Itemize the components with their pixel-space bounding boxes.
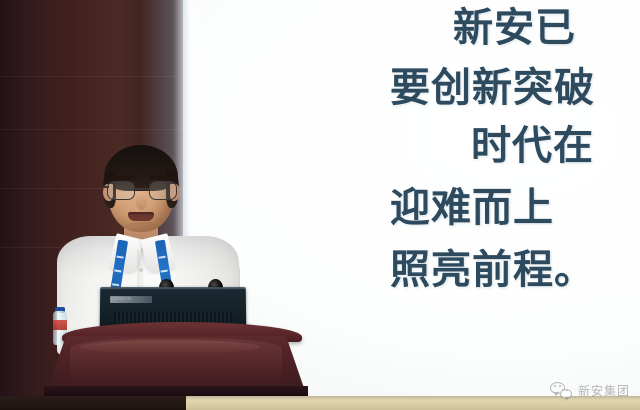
- laptop-lid-edge: [100, 287, 246, 289]
- watermark: 新安集团: [550, 381, 630, 399]
- podium-highlight: [80, 340, 260, 354]
- wechat-dot: [559, 385, 561, 387]
- mouth: [128, 212, 154, 221]
- podium-base: [44, 386, 308, 396]
- chin-shadow: [122, 222, 162, 232]
- lanyard-print: [114, 269, 121, 272]
- wechat-dot: [566, 389, 568, 391]
- laptop-brand-logo: Lenovo: [110, 296, 152, 303]
- slide-line-4: 迎难而上: [390, 186, 554, 230]
- lanyard-print: [116, 256, 123, 259]
- lens-right: [149, 181, 177, 200]
- slide-line-3: 时代在: [471, 124, 594, 168]
- slide-line-5: 照亮前程。: [390, 248, 595, 292]
- lanyard-print: [161, 270, 168, 273]
- watermark-label: 新安集团: [578, 382, 630, 399]
- bottle-label: [53, 320, 67, 330]
- laptop-vent: [114, 311, 232, 322]
- lens-left: [107, 181, 135, 200]
- wechat-icon: [550, 381, 572, 399]
- slide-line-1: 新安已: [453, 6, 576, 50]
- nose: [136, 194, 147, 210]
- wechat-dot: [554, 385, 556, 387]
- slide-line-2: 要创新突破: [390, 66, 595, 110]
- glasses-bridge: [135, 188, 149, 190]
- wechat-dot: [562, 389, 564, 391]
- shirt-button: [139, 268, 143, 272]
- floor-strip-dark: [0, 396, 186, 410]
- lanyard-print: [158, 256, 165, 259]
- lanyard-print: [112, 283, 119, 286]
- photo-stage: 新安已 要创新突破 时代在 迎难而上 照亮前程。: [0, 0, 640, 410]
- glasses-temple: [102, 186, 109, 188]
